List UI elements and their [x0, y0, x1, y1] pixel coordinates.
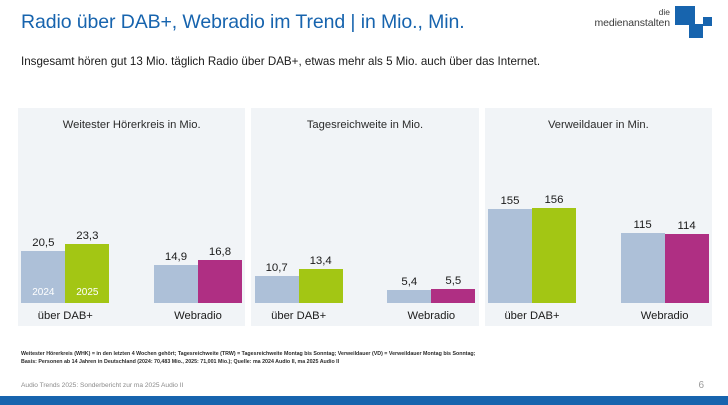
chart-panel-verweildauer: Verweildauer in Min. 155 156 über DAB+: [485, 108, 712, 326]
category-label: Webradio: [641, 310, 689, 322]
logo-square-large-icon: [675, 6, 695, 25]
bar-group-webradio: 115 114 Webradio: [617, 153, 712, 322]
bar-pair: 20,5 2024 23,3 2025: [21, 153, 109, 303]
bar-item-2024: 10,7: [255, 153, 299, 303]
bar-value-label: 155: [500, 196, 519, 207]
bar-pair: 5,4 5,5: [387, 153, 475, 303]
bar-value-label: 5,5: [445, 276, 461, 287]
bar-series-label-2024: 2024: [21, 287, 65, 298]
logo-squares-icon: [675, 6, 717, 39]
slide: Radio über DAB+, Webradio im Trend | in …: [0, 0, 728, 405]
bar-2024[interactable]: 2024: [21, 251, 65, 303]
bar-group-dab: 155 156 über DAB+: [485, 153, 580, 322]
bar-item-2025: 114: [665, 153, 709, 303]
bar-value-label: 10,7: [266, 263, 288, 274]
bar-2024[interactable]: [488, 209, 532, 303]
bar-item-2025: 16,8: [198, 153, 242, 303]
logo: die medienanstalten: [594, 6, 717, 39]
category-label: Webradio: [174, 310, 222, 322]
bar-2025[interactable]: [532, 208, 576, 303]
chart-plot-area: 20,5 2024 23,3 2025 über DAB+: [18, 142, 245, 326]
logo-square-medium-icon: [689, 24, 703, 38]
category-label: Webradio: [407, 310, 455, 322]
bar-pair: 155 156: [488, 153, 576, 303]
bar-2025[interactable]: [665, 234, 709, 303]
chart-panel-tagesreichweite: Tagesreichweite in Mio. 10,7 13,4 über D…: [251, 108, 478, 326]
bar-value-label: 5,4: [401, 277, 417, 288]
bar-value-label: 114: [678, 221, 696, 232]
page-title: Radio über DAB+, Webradio im Trend | in …: [21, 11, 465, 34]
bar-pair: 10,7 13,4: [255, 153, 343, 303]
bar-value-label: 14,9: [165, 252, 187, 263]
bar-item-2025: 13,4: [299, 153, 343, 303]
bar-item-2024: 20,5 2024: [21, 153, 65, 303]
bottom-accent-bar: [0, 396, 728, 405]
chart-title: Weitester Hörerkreis in Mio.: [18, 119, 245, 131]
bar-2024[interactable]: [255, 276, 299, 303]
bar-2024[interactable]: [387, 290, 431, 303]
bar-item-2024: 5,4: [387, 153, 431, 303]
bar-value-label: 156: [544, 195, 563, 206]
bar-2025[interactable]: [198, 260, 242, 303]
bar-value-label: 23,3: [76, 231, 98, 242]
bar-2024[interactable]: [154, 265, 198, 303]
bar-2025[interactable]: [299, 269, 343, 303]
bar-value-label: 115: [634, 220, 652, 231]
bar-item-2024: 155: [488, 153, 532, 303]
bar-item-2025: 156: [532, 153, 576, 303]
bar-group-webradio: 14,9 16,8 Webradio: [151, 153, 246, 322]
bar-item-2025: 5,5: [431, 153, 475, 303]
footnote-definitions: Weitester Hörerkreis (WHK) = in den letz…: [21, 350, 711, 358]
bar-2024[interactable]: [621, 233, 665, 303]
bar-item-2025: 23,3 2025: [65, 153, 109, 303]
bar-value-label: 20,5: [32, 238, 54, 249]
footnote-basis-source: Basis: Personen ab 14 Jahren in Deutschl…: [21, 358, 711, 366]
bar-group-webradio: 5,4 5,5 Webradio: [384, 153, 479, 322]
logo-text-line2: medienanstalten: [594, 18, 670, 30]
page-number: 6: [698, 380, 704, 391]
chart-plot-area: 10,7 13,4 über DAB+ 5,4: [251, 142, 478, 326]
bar-value-label: 16,8: [209, 247, 231, 258]
bar-group-dab: 20,5 2024 23,3 2025 über DAB+: [18, 153, 113, 322]
category-label: über DAB+: [271, 310, 326, 322]
bar-value-label: 13,4: [310, 256, 332, 267]
bar-item-2024: 14,9: [154, 153, 198, 303]
category-label: über DAB+: [38, 310, 93, 322]
logo-text: die medienanstalten: [594, 6, 670, 29]
bar-series-label-2025: 2025: [65, 287, 109, 298]
chart-plot-area: 155 156 über DAB+ 115: [485, 142, 712, 326]
logo-square-small-icon: [703, 17, 712, 26]
bar-2025[interactable]: [431, 289, 475, 303]
bar-group-dab: 10,7 13,4 über DAB+: [251, 153, 346, 322]
bar-item-2024: 115: [621, 153, 665, 303]
chart-title: Tagesreichweite in Mio.: [251, 119, 478, 131]
chart-title: Verweildauer in Min.: [485, 119, 712, 131]
chart-panel-weitester-hoererkreis: Weitester Hörerkreis in Mio. 20,5 2024 2…: [18, 108, 245, 326]
bar-pair: 14,9 16,8: [154, 153, 242, 303]
slide-footer-text: Audio Trends 2025: Sonderbericht zur ma …: [21, 382, 183, 389]
footnotes: Weitester Hörerkreis (WHK) = in den letz…: [21, 350, 711, 366]
chart-panels: Weitester Hörerkreis in Mio. 20,5 2024 2…: [18, 108, 712, 326]
bar-pair: 115 114: [621, 153, 709, 303]
bar-2025[interactable]: 2025: [65, 244, 109, 303]
subtitle: Insgesamt hören gut 13 Mio. täglich Radi…: [21, 55, 540, 68]
category-label: über DAB+: [504, 310, 559, 322]
